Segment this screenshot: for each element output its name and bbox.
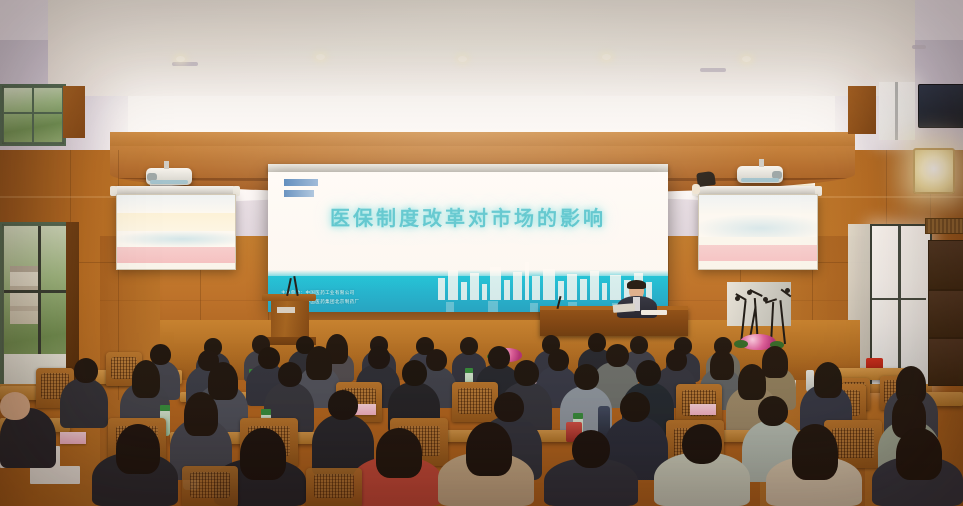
window-left	[0, 222, 70, 388]
side-projection-screen-left	[116, 194, 236, 270]
attendee-head	[0, 392, 30, 420]
main-projection-screen: 医保制度改革对市场的影响 主办单位：中国医药工业有限公司 协办单位：中国医药集团…	[268, 172, 668, 312]
slide-skyline-building	[590, 271, 599, 300]
slide-skyline-building	[490, 267, 501, 300]
podium-top	[262, 294, 316, 301]
attendee-head	[368, 346, 390, 369]
attendee-head	[630, 336, 648, 354]
attendee-head	[258, 347, 280, 369]
attendee-hair	[792, 424, 838, 480]
attendee-head	[758, 396, 788, 426]
slide-skyline-building	[543, 269, 555, 300]
attendee-head	[402, 360, 427, 386]
window-recess-left	[63, 86, 85, 138]
attendee-head	[488, 346, 510, 369]
slide-skyline-building	[482, 284, 487, 300]
attendee-head	[426, 349, 447, 371]
bottle-cap	[573, 413, 583, 419]
bottle-cap	[160, 405, 170, 411]
slide-skyline-building	[438, 278, 445, 300]
attendee-hair	[710, 350, 734, 380]
acoustic-panel	[928, 290, 963, 338]
audience-chair	[452, 382, 498, 422]
screen-case-right	[696, 186, 818, 194]
attendee-head	[620, 392, 650, 422]
slide-skyline-reflection	[446, 302, 454, 312]
slide-skyline-building	[448, 270, 458, 300]
side-projection-screen-right	[698, 194, 818, 270]
bottle-cap	[465, 368, 473, 373]
attendee-hair	[896, 428, 942, 480]
attendee-head	[636, 360, 661, 386]
ceiling-spot	[742, 56, 751, 62]
speaker-laptop	[613, 303, 636, 313]
attendee-body	[60, 378, 108, 428]
slide-skyline-building	[567, 274, 577, 300]
attendee-head	[572, 430, 610, 468]
slide-title: 医保制度改革对市场的影响	[268, 202, 668, 231]
attendee-head	[460, 337, 478, 355]
documents	[30, 466, 80, 484]
attendee-hair	[116, 424, 160, 474]
attendee-head	[548, 349, 569, 371]
clerestory-window-right	[879, 82, 915, 140]
slide-skyline-reflection	[488, 301, 498, 312]
acoustic-panel	[928, 338, 963, 386]
name-card	[690, 404, 716, 415]
wall-speaker	[918, 84, 963, 128]
attendee-hair	[184, 392, 218, 436]
ceiling-projector-left	[146, 168, 192, 185]
bottle-cap	[261, 409, 271, 415]
attendee-head	[666, 349, 687, 371]
slide-skyline-reflection	[530, 303, 538, 312]
ceiling-spot	[458, 56, 467, 62]
slide-skyline-building	[470, 273, 479, 300]
attendee-head	[328, 390, 358, 420]
attendee-hair	[814, 362, 842, 398]
ceiling-spot	[176, 56, 185, 62]
attendee-hair	[132, 360, 160, 398]
name-card	[60, 432, 86, 444]
acoustic-panel	[928, 240, 963, 290]
ceiling-vent	[172, 62, 198, 66]
ceiling-vent	[700, 68, 726, 72]
attendee-hair	[240, 428, 286, 480]
attendee-hair	[738, 364, 766, 400]
attendee-head	[514, 360, 539, 386]
ceiling-vent	[912, 45, 926, 49]
attendee-hair	[762, 346, 788, 378]
wall-sconce	[913, 148, 955, 194]
speaker-hair	[627, 280, 646, 289]
conference-hall-photo: 医保制度改革对市场的影响 主办单位：中国医药工业有限公司 协办单位：中国医药集团…	[0, 0, 963, 506]
attendee-head	[494, 392, 524, 422]
slide-skyline-building	[580, 279, 587, 300]
attendee-head	[606, 344, 629, 367]
audience-chair	[182, 466, 238, 506]
ceiling-spot	[602, 54, 611, 60]
audience-chair	[306, 468, 362, 506]
microphone-head	[785, 288, 790, 293]
ceiling-spot	[316, 54, 325, 60]
attendee-hair	[376, 428, 422, 478]
attendee-hair	[466, 422, 512, 476]
slide-skyline-building	[513, 272, 522, 300]
window-recess-right	[848, 86, 876, 134]
attendee-head	[74, 358, 98, 383]
microphone-head	[763, 297, 768, 302]
attendee-head	[682, 424, 722, 464]
screen-case-left	[114, 186, 236, 194]
slide-logo-badge-2	[284, 190, 314, 197]
attendee-hair	[208, 362, 238, 400]
slide-logo-badge-1	[284, 179, 318, 186]
attendee-head	[574, 364, 599, 390]
microphone-head	[747, 290, 752, 295]
ceiling-projector-right	[737, 166, 783, 183]
slide-skyline-building	[504, 280, 510, 300]
wall-seam	[815, 196, 963, 198]
speaker-podium	[271, 301, 309, 337]
clerestory-window-left	[0, 84, 66, 146]
slide-skyline-building	[461, 282, 467, 300]
wall-vent-grille	[925, 218, 963, 234]
slide-skyline-building	[610, 275, 621, 300]
attendee-head	[278, 362, 302, 387]
slide-skyline-building	[602, 283, 607, 300]
slide-skyline-building	[532, 276, 540, 300]
slide-skyline-building	[525, 262, 529, 300]
attendee-head	[588, 333, 606, 352]
speaker-documents	[641, 310, 667, 315]
wall-figurine-base	[692, 184, 700, 194]
attendee-hair	[306, 346, 332, 380]
